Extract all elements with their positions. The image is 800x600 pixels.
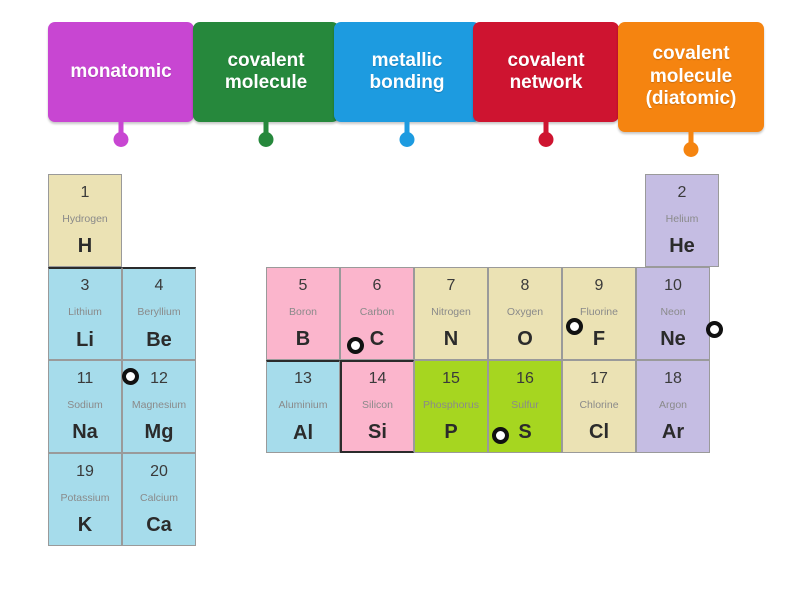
element-symbol: Ar [662, 422, 684, 442]
periodic-table-left-block: 1HydrogenH3LithiumLi4BerylliumBe11Sodium… [48, 174, 196, 546]
element-cell-b[interactable]: 5BoronB [266, 267, 340, 360]
connector-knob[interactable] [539, 132, 554, 147]
connector-knob[interactable] [400, 132, 415, 147]
connector-knob[interactable] [259, 132, 274, 147]
element-symbol: Al [293, 423, 313, 443]
periodic-table-right-block: 5BoronB6CarbonC7NitrogenN8OxygenO9Fluori… [266, 267, 710, 453]
element-cell-n[interactable]: 7NitrogenN [414, 267, 488, 360]
element-symbol: S [518, 422, 531, 442]
element-atomic-number: 7 [447, 278, 456, 294]
element-symbol: Ne [660, 329, 686, 349]
element-name: Aluminium [278, 400, 327, 411]
element-name: Calcium [140, 493, 178, 504]
element-name: Sulfur [511, 400, 538, 411]
element-name: Fluorine [580, 307, 618, 318]
element-name: Argon [659, 400, 687, 411]
periodic-table-row: 1HydrogenH [48, 174, 196, 267]
element-atomic-number: 2 [678, 185, 687, 201]
element-cell-li[interactable]: 3LithiumLi [48, 267, 122, 360]
element-cell-he[interactable]: 2HeliumHe [645, 174, 719, 267]
element-atomic-number: 16 [516, 371, 534, 387]
periodic-table-row: 13AluminiumAl14SiliconSi15PhosphorusP16S… [266, 360, 710, 453]
element-symbol: Na [72, 422, 98, 442]
label-connector-metallic-bonding [405, 122, 410, 147]
label-text: covalent molecule (diatomic) [625, 43, 757, 110]
element-cell-o[interactable]: 8OxygenO [488, 267, 562, 360]
element-name: Oxygen [507, 307, 543, 318]
element-atomic-number: 6 [373, 278, 382, 294]
label-wrap-covalent-molecule-diatomic: covalent molecule (diatomic) [618, 22, 764, 132]
label-wrap-covalent-molecule: covalent molecule [193, 22, 339, 122]
periodic-table-row: 5BoronB6CarbonC7NitrogenN8OxygenO9Fluori… [266, 267, 710, 360]
element-name: Hydrogen [62, 214, 108, 225]
label-text: monatomic [70, 61, 171, 83]
element-symbol: F [593, 329, 605, 349]
marker-ne-icon[interactable] [706, 321, 723, 338]
label-wrap-metallic-bonding: metallic bonding [334, 22, 480, 122]
element-symbol: He [669, 236, 695, 256]
element-atomic-number: 18 [664, 371, 682, 387]
element-name: Neon [660, 307, 685, 318]
draggable-labels-row: monatomiccovalent moleculemetallic bondi… [0, 0, 800, 160]
element-cell-f[interactable]: 9FluorineF [562, 267, 636, 360]
element-cell-be[interactable]: 4BerylliumBe [122, 267, 196, 360]
draggable-label-monatomic[interactable]: monatomic [48, 22, 194, 122]
element-cell-ca[interactable]: 20CalciumCa [122, 453, 196, 546]
element-name: Phosphorus [423, 400, 479, 411]
element-atomic-number: 19 [76, 464, 94, 480]
connector-knob[interactable] [114, 132, 129, 147]
element-symbol: C [370, 329, 384, 349]
periodic-table-row: 19PotassiumK20CalciumCa [48, 453, 196, 546]
element-atomic-number: 14 [369, 371, 387, 387]
connector-knob[interactable] [684, 142, 699, 157]
draggable-label-metallic-bonding[interactable]: metallic bonding [334, 22, 480, 122]
element-symbol: N [444, 329, 458, 349]
element-symbol: Ca [146, 515, 172, 535]
element-name: Boron [289, 307, 317, 318]
element-cell-ne[interactable]: 10NeonNe [636, 267, 710, 360]
element-atomic-number: 20 [150, 464, 168, 480]
element-cell-p[interactable]: 15PhosphorusP [414, 360, 488, 453]
element-name: Lithium [68, 307, 102, 318]
draggable-label-covalent-molecule-diatomic[interactable]: covalent molecule (diatomic) [618, 22, 764, 132]
element-atomic-number: 5 [299, 278, 308, 294]
element-symbol: K [78, 515, 92, 535]
element-atomic-number: 12 [150, 371, 168, 387]
element-atomic-number: 17 [590, 371, 608, 387]
periodic-table-helium-cell: 2HeliumHe [645, 174, 719, 267]
marker-o-f-icon[interactable] [566, 318, 583, 335]
element-atomic-number: 10 [664, 278, 682, 294]
label-text: metallic bonding [341, 50, 473, 95]
element-name: Magnesium [132, 400, 186, 411]
element-name: Helium [666, 214, 699, 225]
label-connector-covalent-network [544, 122, 549, 147]
element-atomic-number: 15 [442, 371, 460, 387]
element-atomic-number: 4 [155, 278, 164, 294]
element-atomic-number: 11 [77, 371, 94, 387]
element-atomic-number: 8 [521, 278, 530, 294]
element-cell-h[interactable]: 1HydrogenH [48, 174, 122, 267]
element-symbol: H [78, 236, 92, 256]
label-connector-covalent-molecule [264, 122, 269, 147]
marker-p-s-icon[interactable] [492, 427, 509, 444]
element-name: Beryllium [137, 307, 180, 318]
element-atomic-number: 9 [595, 278, 604, 294]
element-name: Carbon [360, 307, 394, 318]
element-symbol: Mg [145, 422, 174, 442]
element-name: Nitrogen [431, 307, 471, 318]
element-symbol: Be [146, 330, 172, 350]
label-text: covalent molecule [200, 50, 332, 95]
element-symbol: B [296, 329, 310, 349]
element-symbol: Si [368, 422, 387, 442]
element-symbol: Cl [589, 422, 609, 442]
marker-b-c-icon[interactable] [347, 337, 364, 354]
element-name: Silicon [362, 400, 393, 411]
element-cell-al[interactable]: 13AluminiumAl [266, 360, 340, 453]
element-cell-blank [122, 174, 196, 267]
label-wrap-covalent-network: covalent network [473, 22, 619, 122]
element-atomic-number: 1 [81, 185, 90, 201]
element-name: Potassium [60, 493, 109, 504]
element-symbol: P [444, 422, 457, 442]
element-symbol: Li [76, 330, 94, 350]
element-cell-k[interactable]: 19PotassiumK [48, 453, 122, 546]
element-name: Chlorine [579, 400, 618, 411]
element-cell-si[interactable]: 14SiliconSi [340, 360, 414, 453]
marker-na-mg-icon[interactable] [122, 368, 139, 385]
element-atomic-number: 13 [294, 371, 312, 387]
element-symbol: O [517, 329, 533, 349]
draggable-label-covalent-network[interactable]: covalent network [473, 22, 619, 122]
label-wrap-monatomic: monatomic [48, 22, 194, 122]
element-cell-na[interactable]: 11SodiumNa [48, 360, 122, 453]
periodic-table-row: 3LithiumLi4BerylliumBe [48, 267, 196, 360]
label-text: covalent network [480, 50, 612, 95]
label-connector-monatomic [119, 122, 124, 147]
draggable-label-covalent-molecule[interactable]: covalent molecule [193, 22, 339, 122]
element-cell-cl[interactable]: 17ChlorineCl [562, 360, 636, 453]
element-atomic-number: 3 [81, 278, 90, 294]
element-name: Sodium [67, 400, 103, 411]
element-cell-ar[interactable]: 18ArgonAr [636, 360, 710, 453]
label-connector-covalent-molecule-diatomic [689, 132, 694, 157]
